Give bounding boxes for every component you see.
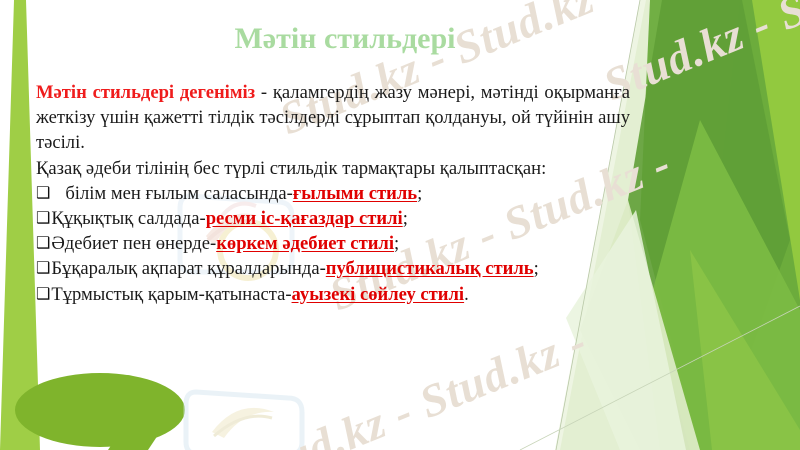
list-item-highlight: публицистикалық стиль [326, 258, 534, 279]
paragraph-definition: Мәтін стильдері дегеніміз - қаламгердің … [36, 80, 630, 156]
list-item-punct: ; [534, 258, 539, 279]
list-item-text: білім мен ғылым саласында- [65, 183, 292, 204]
checkbox-bullet-icon: ❑ [36, 185, 50, 202]
slide-title: Мәтін стильдері [0, 22, 690, 56]
list-item-highlight: ғылыми стиль [293, 183, 417, 204]
paragraph-intro: Қазақ әдеби тілінің бес түрлі стильдік т… [36, 156, 630, 181]
style-types-list: ❑білім мен ғылым саласында-ғылыми стиль;… [36, 181, 630, 307]
list-item-punct: ; [394, 233, 399, 254]
list-item: ❑Бұқаралық ақпарат құралдарында-публицис… [36, 256, 630, 281]
list-item-punct: ; [403, 208, 408, 229]
list-item-punct: . [464, 284, 469, 305]
checkbox-bullet-icon: ❑ [36, 210, 50, 227]
paragraph-intro-text: Қазақ әдеби тілінің бес түрлі стильдік т… [36, 158, 546, 179]
checkbox-bullet-icon: ❑ [36, 235, 50, 252]
list-item: ❑білім мен ғылым саласында-ғылыми стиль; [36, 181, 630, 206]
presentation-slide: Stud.kz - Stud.kz - Stud.kz - Stud.kz - … [0, 0, 800, 450]
list-item-text: Әдебиет пен өнерде- [51, 233, 216, 254]
list-item-text: Бұқаралық ақпарат құралдарында- [51, 258, 325, 279]
list-item: ❑Әдебиет пен өнерде-көркем әдебиет стилі… [36, 231, 630, 256]
slide-content: Мәтін стильдері Мәтін стильдері дегенімі… [0, 0, 800, 450]
list-item-highlight: ресми іс-қағаздар стилі [206, 208, 403, 229]
definition-term: Мәтін стильдері дегеніміз [36, 82, 255, 103]
list-item-highlight: ауызекі сөйлеу стилі [292, 284, 465, 305]
list-item: ❑Құқықтық салдада-ресми іс-қағаздар стил… [36, 206, 630, 231]
list-item-highlight: көркем әдебиет стилі [216, 233, 394, 254]
checkbox-bullet-icon: ❑ [36, 286, 50, 303]
list-item-text: Тұрмыстық қарым-қатынаста- [51, 284, 291, 305]
list-item: ❑Тұрмыстық қарым-қатынаста-ауызекі сөйле… [36, 282, 630, 307]
slide-body: Мәтін стильдері дегеніміз - қаламгердің … [36, 80, 630, 307]
list-item-punct: ; [417, 183, 422, 204]
checkbox-bullet-icon: ❑ [36, 260, 50, 277]
list-item-text: Құқықтық салдада- [51, 208, 205, 229]
